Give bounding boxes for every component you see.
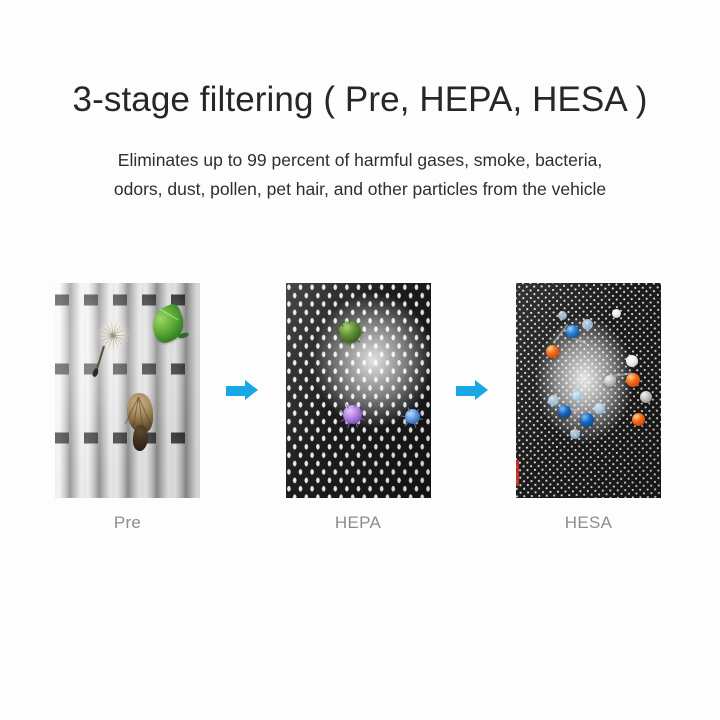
molecule-atom-orange bbox=[546, 345, 559, 358]
green-microbe-particle bbox=[339, 321, 361, 343]
page-subtitle: Eliminates up to 99 percent of harmful g… bbox=[0, 146, 720, 204]
leaf-blade bbox=[147, 302, 189, 346]
product-feature-slide: 3-stage filtering ( Pre, HEPA, HESA ) El… bbox=[0, 0, 720, 720]
caption-pre: Pre bbox=[55, 513, 200, 533]
subtitle-line-2: odors, dust, pollen, pet hair, and other… bbox=[0, 175, 720, 204]
filter-image-hesa bbox=[516, 283, 661, 498]
stage-caption-row: Pre HEPA HESA bbox=[55, 513, 661, 533]
mesh-lighting-overlay bbox=[286, 283, 431, 498]
subtitle-line-1: Eliminates up to 99 percent of harmful g… bbox=[0, 146, 720, 175]
red-edge-marker bbox=[516, 460, 519, 486]
molecule-atom-pale bbox=[572, 391, 582, 401]
dandelion-pappus bbox=[96, 318, 130, 352]
filter-stage-row bbox=[55, 283, 661, 498]
caption-hesa: HESA bbox=[516, 513, 661, 533]
stage-hesa bbox=[516, 283, 661, 498]
molecule-atom-orange bbox=[632, 413, 645, 426]
molecule-atom-blue bbox=[580, 413, 594, 427]
molecule-atom-pale bbox=[570, 429, 580, 439]
filter-image-hepa bbox=[286, 283, 431, 498]
molecule-atom-pale bbox=[548, 395, 559, 406]
pet-hair-particle bbox=[123, 391, 157, 453]
molecule-atom-orange bbox=[626, 373, 640, 387]
arrow-hepa-to-hesa bbox=[456, 380, 490, 402]
stage-hepa bbox=[286, 283, 431, 498]
right-arrow-icon bbox=[456, 386, 476, 396]
purple-microbe-particle bbox=[343, 405, 362, 424]
molecule-atom-white bbox=[626, 355, 638, 367]
mesh-lighting-overlay bbox=[516, 283, 661, 498]
arrow-pre-to-hepa bbox=[226, 380, 260, 402]
molecule-atom-pale bbox=[582, 319, 593, 330]
green-leaf-particle bbox=[152, 307, 184, 341]
right-arrow-icon bbox=[226, 386, 246, 396]
molecule-atom-pale bbox=[558, 311, 567, 320]
stage-pre bbox=[55, 283, 200, 498]
page-title: 3-stage filtering ( Pre, HEPA, HESA ) bbox=[0, 78, 720, 122]
caption-hepa: HEPA bbox=[286, 513, 431, 533]
molecule-atom-blue bbox=[558, 405, 571, 418]
molecule-atom-grey bbox=[640, 391, 652, 403]
molecule-atom-grey bbox=[604, 375, 616, 387]
microbe-body bbox=[343, 405, 362, 424]
molecule-atom-blue bbox=[566, 325, 579, 338]
heading-block: 3-stage filtering ( Pre, HEPA, HESA ) El… bbox=[0, 78, 720, 204]
filter-image-pre bbox=[55, 283, 200, 498]
blue-microbe-particle bbox=[405, 409, 420, 424]
molecule-atom-pale bbox=[594, 403, 605, 414]
dandelion-seed-particle bbox=[89, 318, 135, 376]
molecule-atom-white bbox=[612, 309, 621, 318]
